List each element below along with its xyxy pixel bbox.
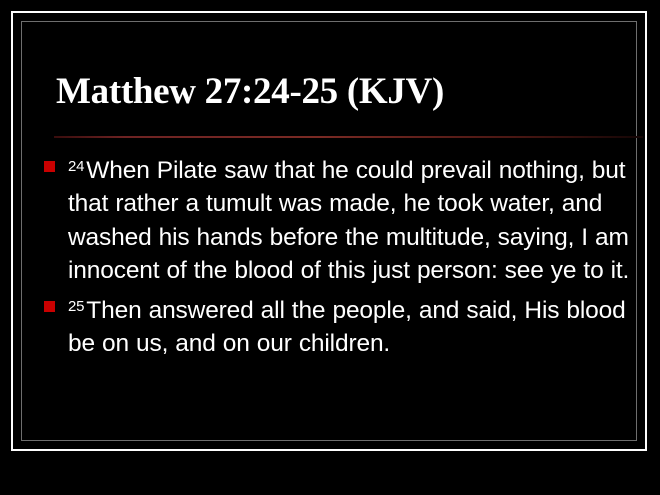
slide-content: Matthew 27:24-25 (KJV) 24When Pilate saw…: [13, 13, 645, 449]
red-square-bullet-icon: [44, 301, 55, 312]
verse-number: 24: [68, 158, 86, 175]
verse-text: Then answered all the people, and said, …: [68, 297, 626, 357]
slide-body: 24When Pilate saw that he could prevail …: [41, 150, 645, 362]
red-square-bullet-icon: [44, 161, 55, 172]
slide-outer-border: Matthew 27:24-25 (KJV) 24When Pilate saw…: [11, 11, 647, 451]
title-divider-rule: [54, 136, 643, 138]
bullet-paragraph: 24When Pilate saw that he could prevail …: [68, 157, 629, 284]
bullet-list-item: 25Then answered all the people, and said…: [41, 290, 645, 361]
presentation-slide: Matthew 27:24-25 (KJV) 24When Pilate saw…: [0, 0, 660, 495]
bullet-paragraph: 25Then answered all the people, and said…: [68, 297, 626, 357]
slide-title: Matthew 27:24-25 (KJV): [56, 70, 636, 114]
verse-number: 25: [68, 298, 86, 315]
verse-text: When Pilate saw that he could prevail no…: [68, 157, 629, 284]
bullet-list-item: 24When Pilate saw that he could prevail …: [41, 150, 645, 288]
